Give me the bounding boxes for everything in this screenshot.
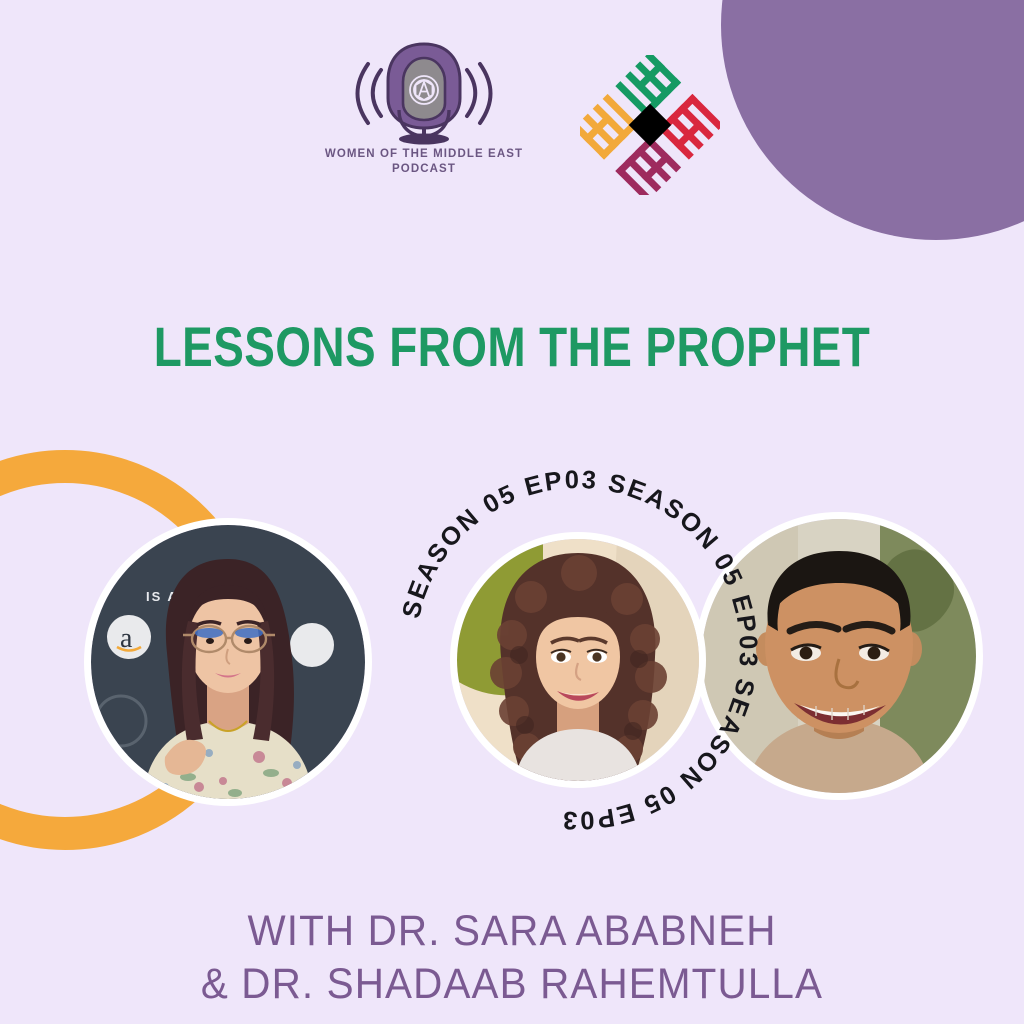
podcast-microphone-icon [318,40,530,145]
geometric-diamond-logo [580,55,720,195]
hosts-line-1: WITH DR. SARA ABABNEH [31,905,994,958]
hosts-line-2: & DR. SHADAAB RAHEMTULLA [31,958,994,1011]
episode-title: LESSONS FROM THE PROPHET [92,314,932,379]
guest-photo-left: IS AV a [84,518,372,806]
guest-photo-right-image [702,519,976,793]
podcast-cover-artwork: WOMEN OF THE MIDDLE EAST PODCAST [0,0,1024,1024]
guest-photo-center-image [457,539,699,781]
podcast-logo-title: WOMEN OF THE MIDDLE EAST [318,147,530,162]
guest-photo-left-image: IS AV a [91,525,365,799]
guest-photo-center [450,532,706,788]
podcast-logo: WOMEN OF THE MIDDLE EAST PODCAST [318,40,530,195]
podcast-logo-subtitle: PODCAST [318,162,530,177]
hosts-credit: WITH DR. SARA ABABNEH & DR. SHADAAB RAHE… [31,905,994,1011]
guest-photo-right [695,512,983,800]
header-logo-row: WOMEN OF THE MIDDLE EAST PODCAST [0,40,1024,200]
